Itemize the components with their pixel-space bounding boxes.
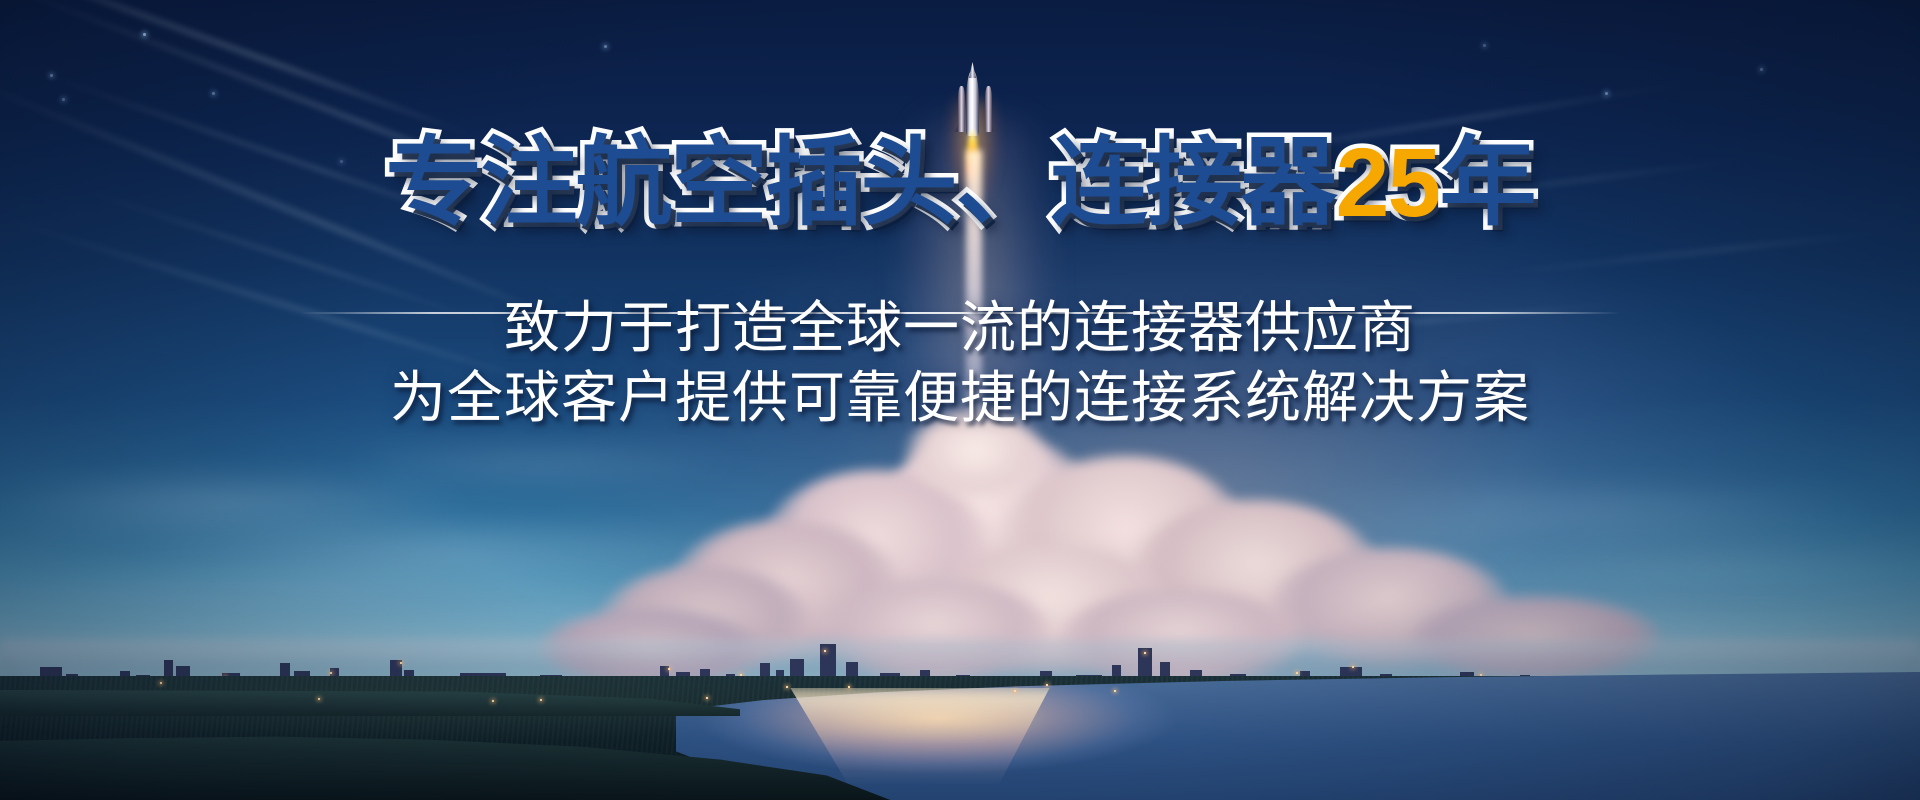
banner-content: 专注航空插头、连接器25年 致力于打造全球一流的连接器供应商 为全球客户提供可靠… (0, 0, 1920, 800)
page-title: 专注航空插头、连接器25年 (0, 134, 1920, 231)
subtitle-line-1: 致力于打造全球一流的连接器供应商 (0, 296, 1920, 361)
headline-segment-years: 25 (1336, 134, 1440, 231)
subtitle-line-2: 为全球客户提供可靠便捷的连接系统解决方案 (0, 366, 1920, 431)
hero-banner: 专注航空插头、连接器25年 致力于打造全球一流的连接器供应商 为全球客户提供可靠… (0, 0, 1920, 800)
headline-segment-unit: 年 (1439, 134, 1534, 231)
headline-segment-primary: 专注航空插头、连接器 (386, 134, 1336, 231)
